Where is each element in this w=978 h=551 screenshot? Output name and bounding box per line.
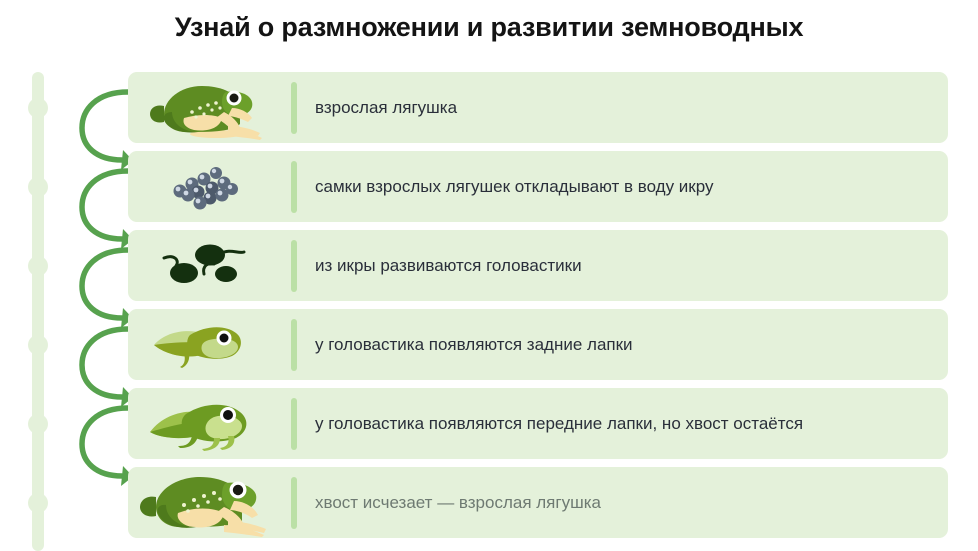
row-divider <box>291 82 297 134</box>
list-item-label: взрослая лягушка <box>315 72 457 143</box>
row-divider <box>291 477 297 529</box>
frog-eggs-icon <box>128 151 292 222</box>
adult-frog-final-icon <box>128 467 292 538</box>
list-item[interactable]: из икры развиваются головастики <box>128 230 948 301</box>
list-item[interactable]: хвост исчезает — взрослая лягушка <box>128 467 948 538</box>
list-item-label: хвост исчезает — взрослая лягушка <box>315 467 601 538</box>
list-item[interactable]: самки взрослых лягушек откладывают в вод… <box>128 151 948 222</box>
timeline-node-4 <box>28 335 48 355</box>
timeline-rail <box>32 72 44 551</box>
list-item[interactable]: взрослая лягушка <box>128 72 948 143</box>
tadpoles-icon <box>128 230 292 301</box>
list-item-label: у головастика появляются передние лапки,… <box>315 388 803 459</box>
tadpole-front-legs-icon <box>128 388 292 459</box>
timeline-node-5 <box>28 414 48 434</box>
list-item-label: у головастика появляются задние лапки <box>315 309 633 380</box>
adult-frog-icon <box>128 72 292 143</box>
timeline-node-2 <box>28 177 48 197</box>
timeline-node-6 <box>28 493 48 513</box>
row-divider <box>291 161 297 213</box>
timeline-node-3 <box>28 256 48 276</box>
list-item-label: самки взрослых лягушек откладывают в вод… <box>315 151 714 222</box>
row-divider <box>291 319 297 371</box>
timeline-node-1 <box>28 98 48 118</box>
row-divider <box>291 398 297 450</box>
row-divider <box>291 240 297 292</box>
list-item-label: из икры развиваются головастики <box>315 230 582 301</box>
page-title: Узнай о размножении и развитии земноводн… <box>0 12 978 43</box>
list-item[interactable]: у головастика появляются задние лапки <box>128 309 948 380</box>
tadpole-hind-legs-icon <box>128 309 292 380</box>
list-item[interactable]: у головастика появляются передние лапки,… <box>128 388 948 459</box>
